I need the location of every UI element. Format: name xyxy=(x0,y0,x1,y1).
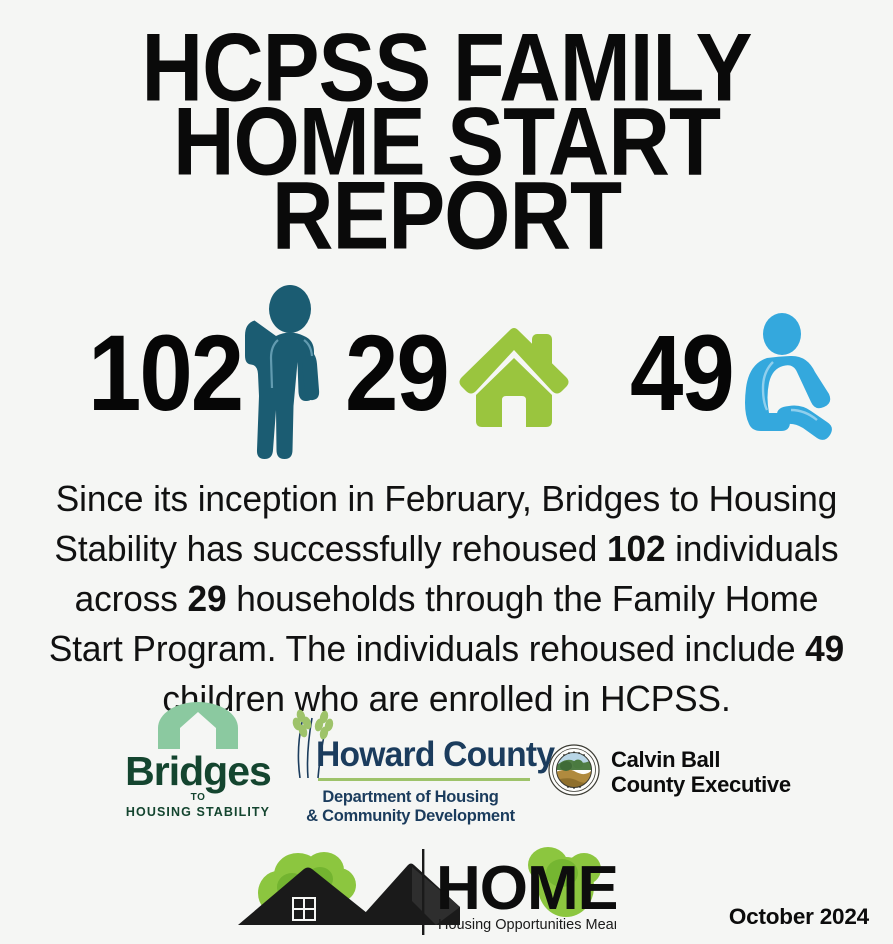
stat-individuals: 102 xyxy=(88,286,338,462)
bridges-logo: Bridges TO HOUSING STABILITY xyxy=(108,702,288,819)
infographic-poster: HCPSS FAMILY HOME START REPORT 102 xyxy=(0,0,893,944)
partner-logos-row: Bridges TO HOUSING STABILITY xyxy=(0,700,893,840)
window-icon xyxy=(292,897,316,921)
howard-county-seal-icon xyxy=(548,744,600,801)
calvin-ball-logo: Calvin Ball County Executive xyxy=(548,744,791,801)
calvin-ball-text: Calvin Ball County Executive xyxy=(611,748,791,797)
calvin-ball-name: Calvin Ball xyxy=(611,748,791,773)
standing-person-icon xyxy=(242,284,338,465)
howard-county-divider xyxy=(318,778,530,781)
report-date: October 2024 xyxy=(729,904,869,930)
howard-county-logo: Howard County Department of Housing & Co… xyxy=(288,734,533,825)
page-title: HCPSS FAMILY HOME START REPORT xyxy=(0,26,893,246)
logo-divider xyxy=(422,849,424,935)
calvin-ball-role: County Executive xyxy=(611,773,791,798)
bridges-name: Bridges xyxy=(108,752,288,791)
title-line-3: REPORT xyxy=(0,174,893,259)
bridges-tagline: HOUSING STABILITY xyxy=(108,805,288,819)
howard-county-dept-line-2: & Community Development xyxy=(292,806,530,825)
body-bold-29: 29 xyxy=(188,578,227,619)
home-tagline: Housing Opportunities Meant for Everyone xyxy=(438,917,616,933)
body-paragraph: Since its inception in February, Bridges… xyxy=(41,474,853,724)
stat-households-value: 29 xyxy=(345,320,448,428)
stat-children: 49 xyxy=(630,286,837,462)
howard-county-dept-line-1: Department of Housing xyxy=(292,787,530,806)
bridge-arch-icon xyxy=(108,702,288,754)
house-icon xyxy=(448,314,572,435)
stat-individuals-value: 102 xyxy=(88,320,242,428)
stat-children-value: 49 xyxy=(630,320,733,428)
statistics-row: 102 29 xyxy=(0,286,893,462)
body-bold-102: 102 xyxy=(607,528,665,569)
howard-county-name: Howard County xyxy=(316,737,554,772)
body-bold-49: 49 xyxy=(805,628,844,669)
stat-households: 29 xyxy=(345,286,572,462)
home-wordmark: HOME xyxy=(436,854,616,923)
home-logo: HOME Housing Opportunities Meant for Eve… xyxy=(236,845,616,940)
sitting-child-icon xyxy=(733,304,837,445)
